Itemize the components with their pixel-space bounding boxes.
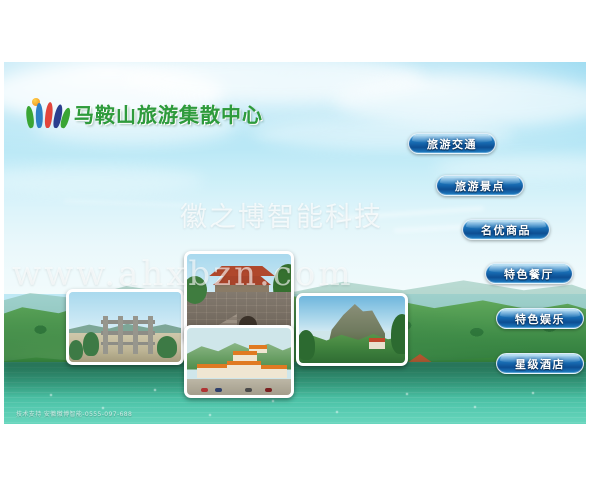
nav-label: 特色餐厅 [504, 266, 554, 282]
nav-famous-products[interactable]: 名优商品 [462, 219, 550, 240]
nav-specialty-restaurants[interactable]: 特色餐厅 [485, 263, 573, 284]
kiosk-home-screen: 马鞍山旅游集散中心 [4, 62, 586, 424]
nav-tourist-attractions[interactable]: 旅游景点 [436, 175, 524, 196]
screenshot-canvas: 马鞍山旅游集散中心 [0, 0, 600, 488]
nav-star-hotels[interactable]: 星级酒店 [496, 353, 584, 374]
nav-specialty-entertainment[interactable]: 特色娱乐 [496, 308, 584, 329]
nav-label: 旅游景点 [455, 178, 505, 194]
nav-label: 旅游交通 [427, 136, 477, 152]
main-navigation: 旅游交通 旅游景点 名优商品 特色餐厅 特色娱乐 星级酒店 [4, 62, 586, 424]
nav-label: 星级酒店 [515, 356, 565, 372]
nav-label: 名优商品 [481, 222, 531, 238]
nav-tourism-transport[interactable]: 旅游交通 [408, 133, 496, 154]
nav-label: 特色娱乐 [515, 311, 565, 327]
